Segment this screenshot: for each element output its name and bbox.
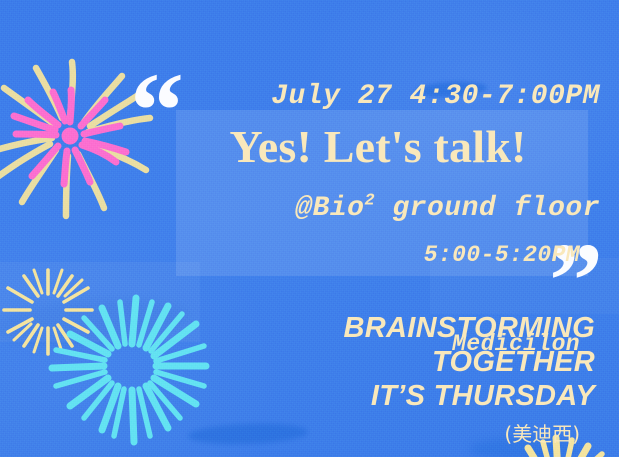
slogan-line-1: BRAINSTORMING xyxy=(200,312,595,346)
session-time: 5:00-5:20PM xyxy=(180,241,580,271)
poster-slogan: BRAINSTORMING TOGETHER IT’S THURSDAY xyxy=(200,312,595,414)
slogan-line-2: TOGETHER xyxy=(200,346,595,380)
session-company-cn: (美迪西) xyxy=(180,420,580,449)
poster-headline: Yes! Let's talk! xyxy=(176,124,580,170)
event-date-time: July 27 4:30-7:00PM xyxy=(0,78,600,115)
event-poster: “ ” July 27 4:30-7:00PM @Bio2 ground flo… xyxy=(0,0,619,457)
slogan-line-3: IT’S THURSDAY xyxy=(200,380,595,414)
